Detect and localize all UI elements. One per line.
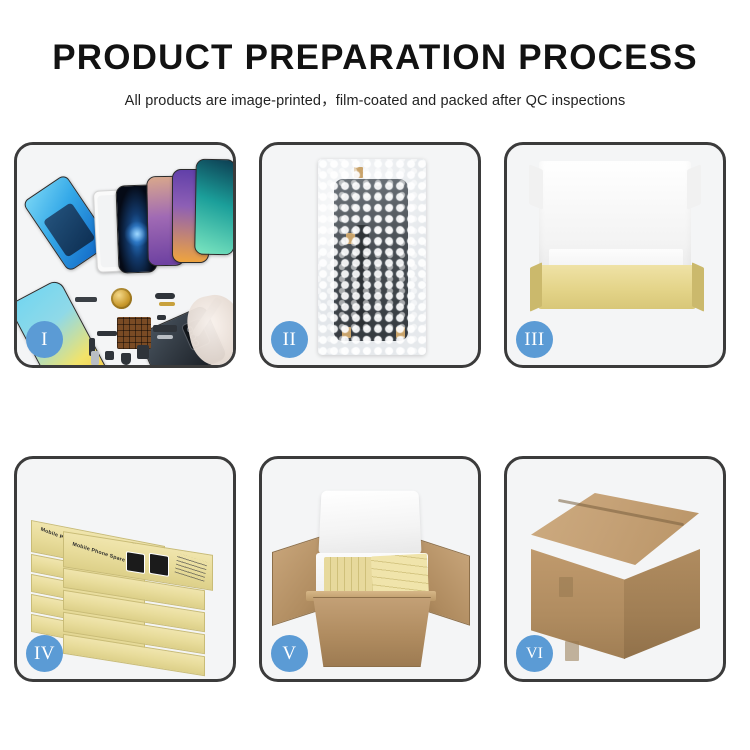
process-step-grid: I II	[14, 142, 736, 682]
step-badge-3: III	[516, 321, 553, 358]
product-preparation-infographic: PRODUCT PREPARATION PROCESS All products…	[0, 0, 750, 750]
antenna-flex-part	[97, 331, 117, 336]
box-spec-lines-front	[175, 553, 208, 582]
page-header: PRODUCT PREPARATION PROCESS All products…	[0, 0, 750, 110]
bubble-texture-secondary	[318, 159, 426, 355]
connector-part	[75, 297, 97, 302]
step-badge-2: II	[271, 321, 308, 358]
box-window-front-2	[149, 553, 169, 577]
speaker-coil-part	[111, 288, 132, 309]
button-flex-part	[157, 315, 166, 320]
phone-screen-teal	[194, 159, 233, 256]
process-step-1: I	[14, 142, 236, 368]
step-badge-4: IV	[26, 635, 63, 672]
process-step-6: VI	[504, 456, 726, 682]
box-window-front-1	[126, 551, 145, 574]
camera-part	[137, 345, 149, 359]
step-badge-1: I	[26, 321, 63, 358]
process-step-3: III	[504, 142, 726, 368]
sim-tray-part	[91, 351, 99, 365]
step-badge-5: V	[271, 635, 308, 672]
carton-side-face	[624, 549, 700, 659]
process-step-4: Mobile Phone Spare Parts Mobile Phone Sp…	[14, 456, 236, 682]
page-subtitle: All products are image-printed，film-coat…	[0, 89, 750, 110]
gold-contact-part	[159, 302, 175, 306]
carton-body	[308, 597, 436, 667]
carton-tape-upper	[559, 577, 573, 597]
step-badge-6: VI	[516, 635, 553, 672]
flex-cable-part	[155, 293, 175, 299]
process-step-2: II	[259, 142, 481, 368]
small-chip-part	[105, 351, 114, 360]
foam-lid	[318, 491, 421, 556]
carton-top-face	[531, 493, 699, 565]
metal-bracket-part	[157, 335, 173, 339]
carton-tape-lower	[565, 641, 579, 661]
ribbon-cable-part	[153, 325, 177, 332]
vibration-motor-part	[121, 353, 131, 365]
bubble-wrap-sleeve	[318, 159, 426, 355]
process-step-5: V	[259, 456, 481, 682]
kraft-inner-box-body	[538, 265, 696, 309]
page-title: PRODUCT PREPARATION PROCESS	[0, 40, 750, 77]
